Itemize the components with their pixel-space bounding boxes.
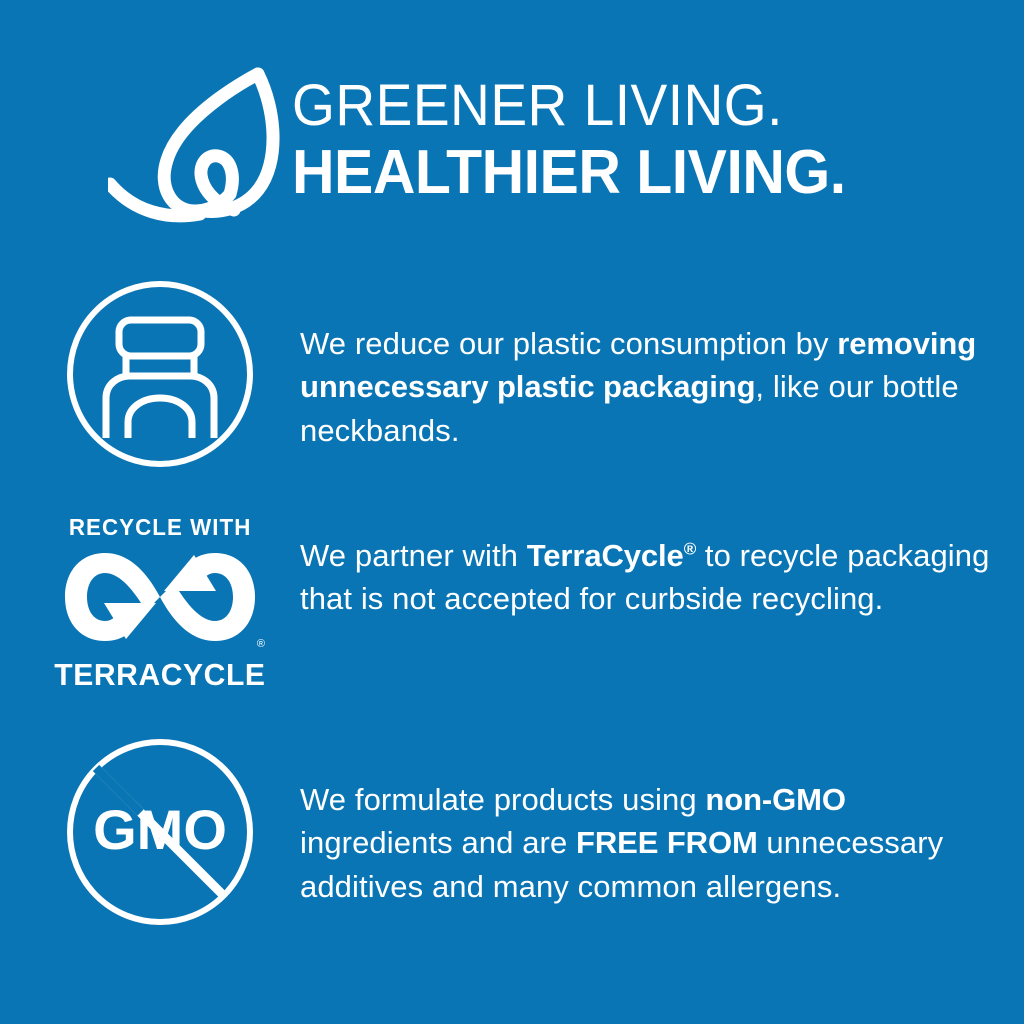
terracycle-logo: RECYCLE WITH ® <box>54 508 266 690</box>
headline-block: GREENER LIVING. HEALTHIER LIVING. <box>292 62 875 206</box>
text-seg: We reduce our plastic consumption by <box>300 326 837 361</box>
text-seg-bold: FREE FROM <box>576 825 758 860</box>
recycle-infinity-icon: ® <box>57 545 263 649</box>
brand-name: TerraCycle <box>527 538 684 573</box>
feature-icon-wrap: GMO <box>0 734 300 930</box>
feature-row-plastic-reduction: We reduce our plastic consumption by rem… <box>0 276 1024 472</box>
terracycle-logo-bottom-text: TERRACYCLE <box>54 659 265 690</box>
text-seg: We partner with <box>300 538 527 573</box>
poster-header: GREENER LIVING. HEALTHIER LIVING. <box>0 62 1024 234</box>
feature-text-terracycle: We partner with TerraCycle® to recycle p… <box>300 508 1024 621</box>
feature-icon-wrap: RECYCLE WITH ® <box>0 508 300 690</box>
bottle-neckband-icon <box>62 276 258 472</box>
feature-row-terracycle: RECYCLE WITH ® <box>0 508 1024 690</box>
feature-icon-wrap <box>0 276 300 472</box>
feature-text-plastic-reduction: We reduce our plastic consumption by rem… <box>300 276 1024 452</box>
headline-line-1: GREENER LIVING. <box>292 76 846 136</box>
text-seg: We formulate products using <box>300 782 705 817</box>
feature-text-non-gmo: We formulate products using non-GMO ingr… <box>300 734 1024 908</box>
feature-row-non-gmo: GMO We formulate products using non-GMO … <box>0 734 1024 930</box>
headline-line-2: HEALTHIER LIVING. <box>292 140 846 206</box>
terracycle-logo-top-text: RECYCLE WITH <box>69 516 252 539</box>
greener-living-poster: GREENER LIVING. HEALTHIER LIVING. <box>0 0 1024 1024</box>
gmo-label: GMO <box>93 798 227 861</box>
no-gmo-icon: GMO <box>62 734 258 930</box>
text-seg-bold: non-GMO <box>705 782 845 817</box>
text-seg: ingredients and are <box>300 825 576 860</box>
registered-mark-icon: ® <box>684 540 696 559</box>
leaf-icon <box>108 66 294 234</box>
feature-rows: We reduce our plastic consumption by rem… <box>0 276 1024 930</box>
registered-mark-icon: ® <box>257 639 265 650</box>
text-seg-bold: TerraCycle® <box>527 538 696 573</box>
